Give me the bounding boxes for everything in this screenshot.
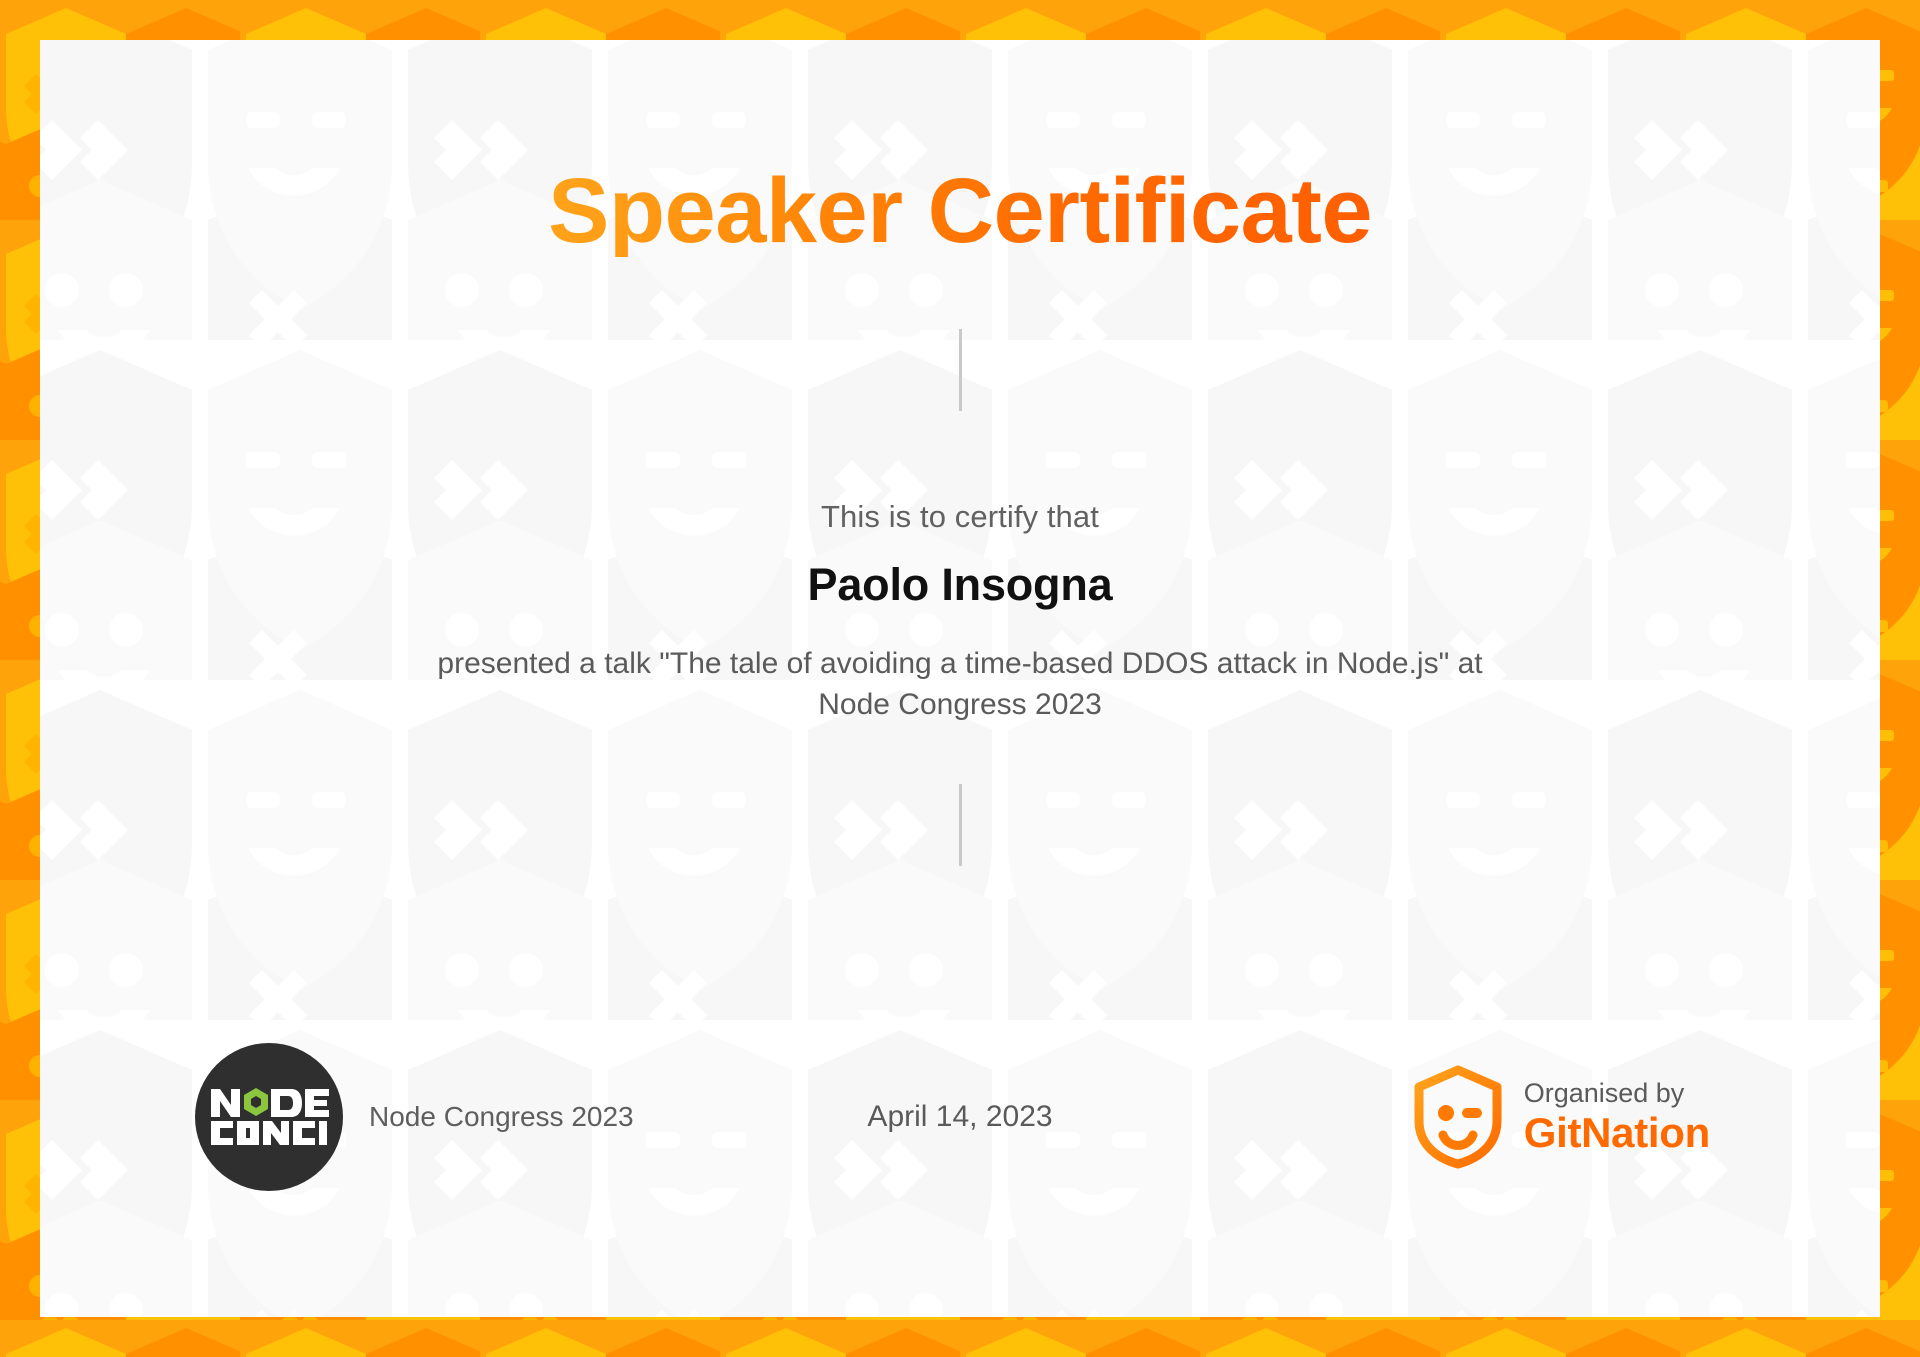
divider-bottom (959, 784, 962, 866)
organiser-name: GitNation (1524, 1109, 1710, 1156)
certificate-footer: Node Congress 2023 April 14, 2023 (40, 1042, 1880, 1192)
page-title: Speaker Certificate (548, 165, 1372, 257)
nodejs-congress-logo-icon (195, 1043, 343, 1191)
certificate-card: Speaker Certificate This is to certify t… (40, 40, 1880, 1317)
certificate-date: April 14, 2023 (867, 1100, 1052, 1134)
certify-line: This is to certify that (821, 499, 1099, 535)
organiser-text-block: Organised by GitNation (1524, 1078, 1710, 1155)
footer-organiser-block: Organised by GitNation (1412, 1065, 1710, 1169)
organised-by-label: Organised by (1524, 1078, 1710, 1108)
recipient-name: Paolo Insogna (808, 559, 1113, 611)
divider-top (959, 329, 962, 411)
talk-description: presented a talk "The tale of avoiding a… (437, 643, 1482, 726)
footer-event-block: Node Congress 2023 (195, 1043, 634, 1191)
talk-line-2: Node Congress 2023 (437, 684, 1482, 725)
gitnation-shield-face-icon (1412, 1065, 1504, 1169)
event-name-label: Node Congress 2023 (369, 1101, 634, 1133)
talk-line-1: presented a talk "The tale of avoiding a… (437, 647, 1482, 680)
